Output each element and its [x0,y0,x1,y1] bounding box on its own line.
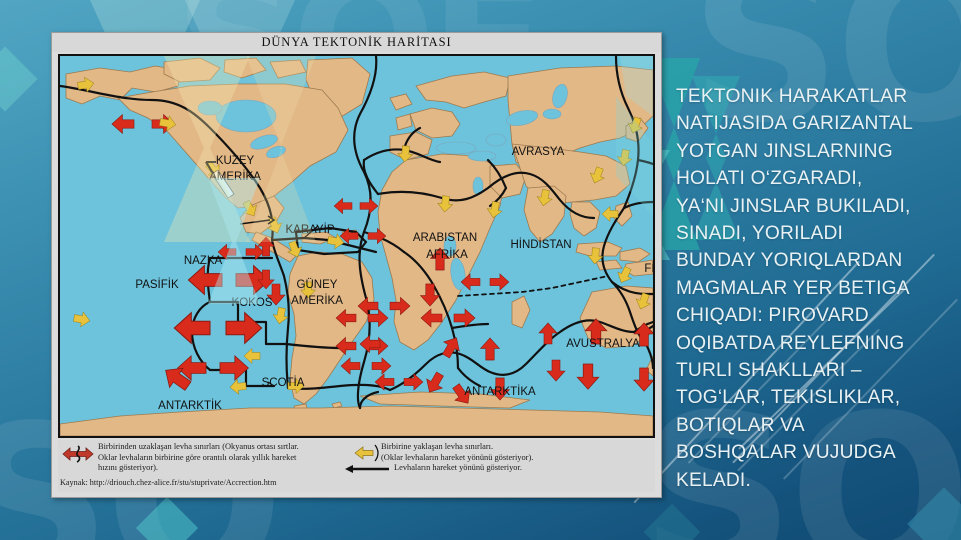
body-text-line: TEKTONIK HARAKATLAR [676,83,942,110]
slide-canvas: SOF SOF SO SO SOF DÜNYA TEKTONİK HARİTAS… [0,0,961,540]
map-label: KOKOS [232,297,273,309]
diamond-decoration-bottom-right [907,487,961,540]
map-label: GÜNEY [297,279,338,291]
map-label: ANTARKTİK [158,399,222,412]
body-text-line: BOSHQALAR VUJUDGA [676,439,942,466]
map-label: NAZKA [184,255,223,267]
map-label: ARABISTAN [413,232,477,244]
map-label: AFRİKA [426,248,468,261]
legend-left-line-1: Birbirinden uzaklaşan levha sınırları (O… [98,442,299,453]
legend-left-line-3: hızını gösteriyor). [98,463,299,474]
diamond-decoration-bottom-center [644,504,701,540]
yellow-arrow-icon [353,443,379,463]
body-text-line: NATIJASIDA GARIZANTAL [676,110,942,137]
map-label: FİLİPİNLER [644,262,653,275]
map-label: KUZEY [216,155,255,167]
body-text-line: OQIBATDA REYLEFNING [676,330,942,357]
body-text-line: HOLATI O‘ZGARADI, [676,165,942,192]
map-title: DÜNYA TEKTONİK HARİTASI [52,33,661,52]
legend-black-arrow-text: Levhaların hareket yönünü gösteriyor. [394,463,522,474]
black-arrow-icon [343,463,391,475]
map-legend: Birbirinden uzaklaşan levha sınırları (O… [58,440,655,492]
legend-right-text: Birbirine yaklaşan levha sınırları. (Okl… [381,442,533,463]
world-tectonic-map-svg: KUZEYAMERİKAKARAYİPNAZKAPASİFİKKOKOSGÜNE… [60,56,653,436]
map-label: SCOTİA [262,376,305,389]
map-image[interactable]: KUZEYAMERİKAKARAYİPNAZKAPASİFİKKOKOSGÜNE… [58,54,655,438]
body-text-line: MAGMALAR YER BETIGA [676,275,942,302]
map-label: KARAYİP [286,223,335,236]
legend-right-line-2: (Oklar levhaların hareket yönünü gösteri… [381,453,533,464]
body-text-line: TOG‘LAR, TEKISLIKLAR, [676,384,942,411]
legend-source: Kaynak: http://driouch.chez-alice.fr/stu… [60,478,276,487]
diamond-decoration-bottom-left [136,497,198,540]
double-red-arrow-icon [61,444,95,464]
body-text-line: BUNDAY YORIQLARDAN [676,247,942,274]
map-label: HİNDİSTAN [510,238,571,251]
tectonic-map-panel[interactable]: DÜNYA TEKTONİK HARİTASI [51,32,662,498]
body-text-line: YA‘NI JINSLAR BUKILADI, [676,193,942,220]
map-label: AVUSTRALYA [566,338,640,350]
body-text-line: SINADI, YORILADI [676,220,942,247]
legend-left-text: Birbirinden uzaklaşan levha sınırları (O… [98,442,299,474]
map-label: AVRASYA [512,146,565,158]
body-text-line: BOTIQLAR VA [676,412,942,439]
body-text-line: CHIQADI: PIROVARD [676,302,942,329]
body-text-line: TURLI SHAKLLARI – [676,357,942,384]
map-label: ANTARKTİKA [464,385,536,398]
legend-left-line-2: Oklar levhaların birbirine göre orantılı… [98,453,299,464]
slide-body-text: TEKTONIK HARAKATLARNATIJASIDA GARIZANTAL… [676,83,942,494]
diamond-decoration-left-edge [0,46,38,111]
body-text-line: KELADI. [676,467,942,494]
legend-right-line-1: Birbirine yaklaşan levha sınırları. [381,442,533,453]
body-text-line: YOTGAN JINSLARNING [676,138,942,165]
map-label: AMERİKA [209,170,261,183]
map-label: PASİFİK [135,278,179,291]
map-label: AMERİKA [291,294,343,307]
